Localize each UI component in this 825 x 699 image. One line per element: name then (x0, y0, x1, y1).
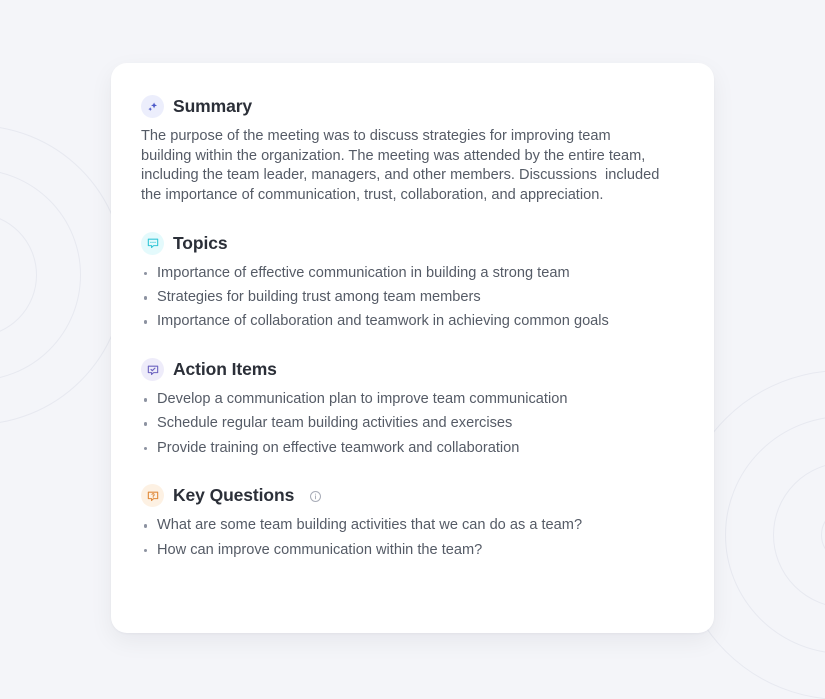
section-summary: Summary The purpose of the meeting was t… (141, 95, 684, 206)
section-topics: Topics Importance of effective communica… (141, 232, 684, 332)
list-item: Importance of effective communication in… (141, 264, 671, 284)
section-header-summary: Summary (141, 95, 684, 118)
info-circle-icon[interactable] (309, 490, 322, 503)
section-title: Topics (173, 233, 228, 254)
summary-paragraph: The purpose of the meeting was to discus… (141, 127, 664, 206)
section-key-questions: Key Questions What are some team buildin… (141, 484, 684, 560)
list-item: How can improve communication within the… (141, 541, 671, 561)
list-item: Strategies for building trust among team… (141, 288, 671, 308)
section-header-key-questions: Key Questions (141, 484, 684, 507)
chat-bubble-dots-icon (141, 232, 164, 255)
meeting-notes-card: Summary The purpose of the meeting was t… (111, 63, 714, 633)
decorative-ring (0, 169, 81, 381)
section-header-action-items: Action Items (141, 358, 684, 381)
list-item: Importance of collaboration and teamwork… (141, 312, 671, 332)
key-questions-list: What are some team building activities t… (141, 516, 671, 560)
topics-list: Importance of effective communication in… (141, 264, 671, 332)
decorative-ring (821, 508, 825, 562)
decorative-ring (0, 213, 37, 337)
list-item: What are some team building activities t… (141, 516, 671, 536)
decorative-ring (725, 416, 825, 654)
section-title: Summary (173, 96, 252, 117)
list-item: Develop a communication plan to improve … (141, 390, 671, 410)
sparkle-icon (141, 95, 164, 118)
section-action-items: Action Items Develop a communication pla… (141, 358, 684, 458)
chat-bubble-question-icon (141, 484, 164, 507)
decorative-ring (773, 462, 825, 608)
section-header-topics: Topics (141, 232, 684, 255)
action-items-list: Develop a communication plan to improve … (141, 390, 671, 458)
section-title: Action Items (173, 359, 277, 380)
chat-bubble-check-icon (141, 358, 164, 381)
list-item: Provide training on effective teamwork a… (141, 439, 671, 459)
section-title: Key Questions (173, 485, 294, 506)
list-item: Schedule regular team building activitie… (141, 414, 671, 434)
decorative-ring (0, 125, 125, 425)
